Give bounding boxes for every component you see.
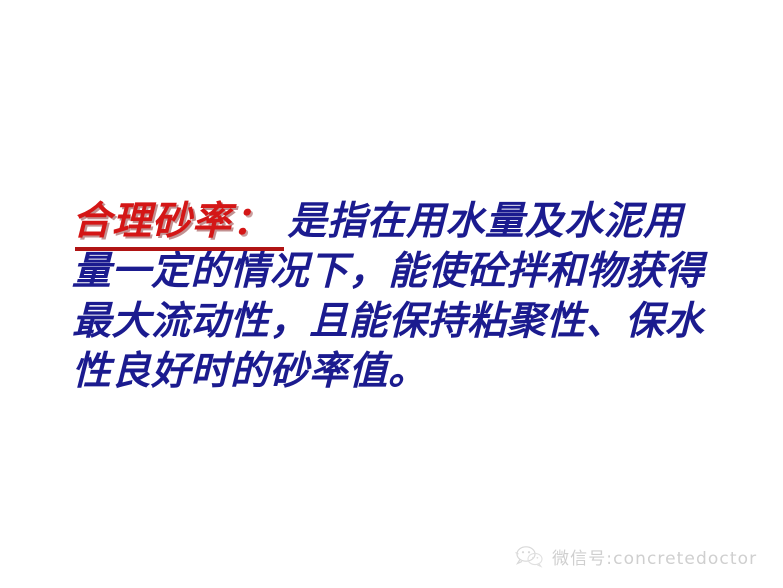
paragraph-line-3: 最大流动性，且能保持粘聚性、保水 — [72, 296, 717, 346]
paragraph-line-4: 性良好时的砂率值。 — [72, 346, 717, 396]
slide-canvas: 合理砂率：是指在用水量及水泥用 量一定的情况下，能使砼拌和物获得 最大流动性，且… — [0, 0, 783, 588]
definition-paragraph: 合理砂率：是指在用水量及水泥用 量一定的情况下，能使砼拌和物获得 最大流动性，且… — [72, 196, 717, 396]
paragraph-line-2: 量一定的情况下，能使砼拌和物获得 — [72, 246, 717, 296]
wechat-icon — [514, 543, 544, 569]
watermark-text: 微信号:concretedoctor — [552, 544, 757, 569]
paragraph-line-3-text: 最大流动性，且能保持粘聚性、保水 — [72, 298, 704, 344]
paragraph-line-4-text: 性良好时的砂率值。 — [72, 348, 428, 394]
paragraph-line-2-text: 量一定的情况下，能使砼拌和物获得 — [72, 248, 704, 294]
term-highlight: 合理砂率 — [72, 198, 232, 244]
term-underline — [75, 247, 284, 251]
paragraph-line-1-text: 是指在用水量及水泥用 — [288, 198, 683, 244]
watermark: 微信号:concretedoctor — [514, 543, 757, 569]
term-colon: ： — [232, 198, 272, 244]
paragraph-line-1: 合理砂率：是指在用水量及水泥用 — [72, 196, 717, 246]
